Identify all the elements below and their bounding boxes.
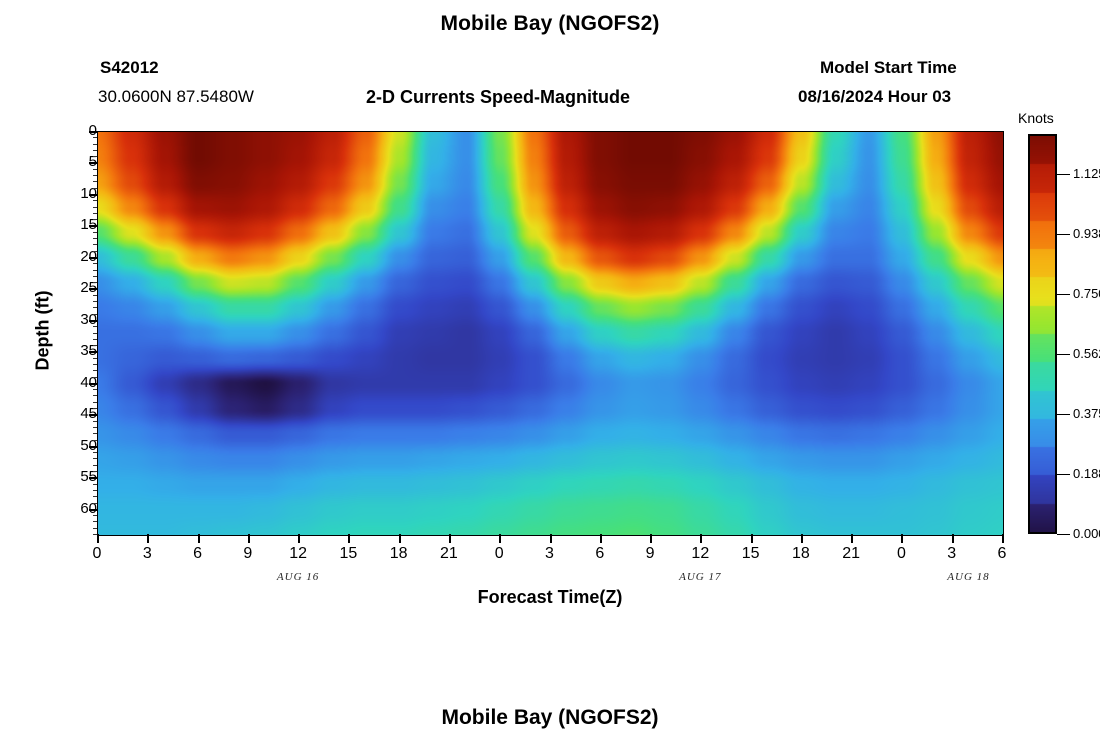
- y-tick-minor: [93, 251, 97, 252]
- y-tick-minor: [93, 144, 97, 145]
- model-start-time-label: Model Start Time: [820, 58, 957, 78]
- x-tick-mark: [248, 534, 250, 543]
- y-tick-mark: [89, 131, 97, 133]
- y-tick-minor: [93, 440, 97, 441]
- y-tick-minor: [93, 282, 97, 283]
- y-tick-minor: [93, 181, 97, 182]
- x-tick-label: 0: [479, 546, 519, 562]
- colorbar-tick-mark: [1057, 294, 1070, 295]
- y-tick-minor: [93, 408, 97, 409]
- y-tick-minor: [93, 395, 97, 396]
- heatmap-canvas: [98, 132, 1003, 535]
- x-tick-label: 6: [982, 546, 1022, 562]
- y-tick-mark: [89, 446, 97, 448]
- y-tick-minor: [93, 370, 97, 371]
- x-tick-label: 18: [781, 546, 821, 562]
- station-coordinates: 30.0600N 87.5480W: [98, 87, 254, 107]
- y-tick-minor: [93, 270, 97, 271]
- x-tick-mark: [901, 534, 903, 543]
- y-tick-minor: [93, 169, 97, 170]
- y-tick-minor: [93, 345, 97, 346]
- y-tick-mark: [89, 162, 97, 164]
- x-tick-label: 9: [630, 546, 670, 562]
- y-tick-mark: [89, 351, 97, 353]
- y-tick-minor: [93, 471, 97, 472]
- heatmap-plot-area: [97, 131, 1004, 536]
- y-tick-mark: [89, 414, 97, 416]
- y-tick-minor: [93, 314, 97, 315]
- y-tick-minor: [93, 427, 97, 428]
- y-tick-minor: [93, 503, 97, 504]
- colorbar-tick-label: 0.750: [1073, 287, 1100, 300]
- model-start-time-value: 08/16/2024 Hour 03: [798, 87, 951, 107]
- x-tick-label: 12: [680, 546, 720, 562]
- x-tick-label: 0: [77, 546, 117, 562]
- colorbar-tick-mark: [1057, 474, 1070, 475]
- x-tick-mark: [348, 534, 350, 543]
- x-tick-label: 12: [278, 546, 318, 562]
- colorbar-tick-mark: [1057, 414, 1070, 415]
- y-tick-minor: [93, 484, 97, 485]
- x-axis-day-label: AUG 17: [655, 571, 745, 583]
- y-tick-minor: [93, 364, 97, 365]
- colorbar-unit-label: Knots: [1018, 110, 1054, 126]
- x-axis-labels: 036912151821036912151821036AUG 16AUG 17A…: [97, 534, 1002, 594]
- y-tick-mark: [89, 509, 97, 511]
- y-tick-minor: [93, 333, 97, 334]
- x-tick-mark: [700, 534, 702, 543]
- x-tick-mark: [449, 534, 451, 543]
- x-tick-mark: [499, 534, 501, 543]
- colorbar-tick-label: 1.125: [1073, 167, 1100, 180]
- x-tick-mark: [97, 534, 99, 543]
- x-tick-label: 3: [530, 546, 570, 562]
- x-tick-mark: [550, 534, 552, 543]
- y-tick-minor: [93, 528, 97, 529]
- x-tick-label: 3: [127, 546, 167, 562]
- x-axis-day-label: AUG 16: [253, 571, 343, 583]
- y-tick-minor: [93, 238, 97, 239]
- x-tick-label: 15: [731, 546, 771, 562]
- y-tick-minor: [93, 200, 97, 201]
- x-tick-label: 6: [580, 546, 620, 562]
- y-tick-minor: [93, 137, 97, 138]
- y-tick-minor: [93, 490, 97, 491]
- colorbar-tick-label: 0.562: [1073, 347, 1100, 360]
- x-tick-label: 0: [881, 546, 921, 562]
- y-tick-minor: [93, 402, 97, 403]
- page-title: Mobile Bay (NGOFS2): [0, 12, 1100, 36]
- x-tick-mark: [298, 534, 300, 543]
- y-tick-minor: [93, 307, 97, 308]
- y-tick-minor: [93, 452, 97, 453]
- x-tick-label: 3: [932, 546, 972, 562]
- y-tick-minor: [93, 156, 97, 157]
- y-tick-mark: [89, 257, 97, 259]
- y-tick-minor: [93, 263, 97, 264]
- bottom-title: Mobile Bay (NGOFS2): [0, 706, 1100, 730]
- x-tick-mark: [801, 534, 803, 543]
- chart-subtitle: 2-D Currents Speed-Magnitude: [366, 87, 630, 108]
- station-id: S42012: [100, 58, 159, 78]
- y-axis-tickmarks: [89, 131, 97, 534]
- y-tick-mark: [89, 288, 97, 290]
- x-axis-title: Forecast Time(Z): [0, 587, 1100, 608]
- y-tick-minor: [93, 295, 97, 296]
- x-tick-mark: [147, 534, 149, 543]
- x-tick-label: 21: [831, 546, 871, 562]
- x-tick-mark: [650, 534, 652, 543]
- colorbar-tick-label: 0.375: [1073, 407, 1100, 420]
- y-tick-minor: [93, 433, 97, 434]
- y-tick-mark: [89, 477, 97, 479]
- x-tick-label: 18: [379, 546, 419, 562]
- y-tick-minor: [93, 301, 97, 302]
- y-tick-minor: [93, 244, 97, 245]
- x-tick-mark: [952, 534, 954, 543]
- colorbar-ticks: 1.1250.9380.7500.5620.3750.1880.000: [1057, 134, 1100, 534]
- y-tick-minor: [93, 389, 97, 390]
- y-tick-minor: [93, 358, 97, 359]
- x-tick-mark: [851, 534, 853, 543]
- x-tick-label: 15: [328, 546, 368, 562]
- y-tick-minor: [93, 213, 97, 214]
- x-tick-mark: [198, 534, 200, 543]
- y-tick-minor: [93, 496, 97, 497]
- y-tick-minor: [93, 207, 97, 208]
- colorbar-tick-label: 0.938: [1073, 227, 1100, 240]
- y-tick-minor: [93, 339, 97, 340]
- colorbar: [1028, 134, 1057, 534]
- y-tick-minor: [93, 421, 97, 422]
- y-tick-minor: [93, 175, 97, 176]
- x-tick-mark: [751, 534, 753, 543]
- y-tick-minor: [93, 150, 97, 151]
- colorbar-tick-mark: [1057, 174, 1070, 175]
- x-tick-label: 6: [178, 546, 218, 562]
- x-tick-label: 21: [429, 546, 469, 562]
- x-tick-mark: [399, 534, 401, 543]
- y-tick-mark: [89, 383, 97, 385]
- x-tick-mark: [600, 534, 602, 543]
- x-tick-label: 9: [228, 546, 268, 562]
- y-tick-minor: [93, 188, 97, 189]
- y-tick-minor: [93, 377, 97, 378]
- y-tick-minor: [93, 465, 97, 466]
- y-tick-minor: [93, 276, 97, 277]
- x-tick-mark: [1002, 534, 1004, 543]
- y-tick-minor: [93, 458, 97, 459]
- colorbar-tick-label: 0.000: [1073, 527, 1100, 540]
- y-tick-minor: [93, 232, 97, 233]
- y-tick-minor: [93, 219, 97, 220]
- colorbar-tick-mark: [1057, 534, 1070, 535]
- y-tick-mark: [89, 194, 97, 196]
- colorbar-tick-mark: [1057, 354, 1070, 355]
- colorbar-canvas: [1030, 136, 1055, 532]
- y-tick-mark: [89, 320, 97, 322]
- colorbar-tick-label: 0.188: [1073, 467, 1100, 480]
- y-tick-minor: [93, 521, 97, 522]
- colorbar-tick-mark: [1057, 234, 1070, 235]
- y-tick-minor: [93, 326, 97, 327]
- y-tick-mark: [89, 225, 97, 227]
- x-axis-day-label: AUG 18: [923, 571, 1013, 583]
- y-tick-minor: [93, 515, 97, 516]
